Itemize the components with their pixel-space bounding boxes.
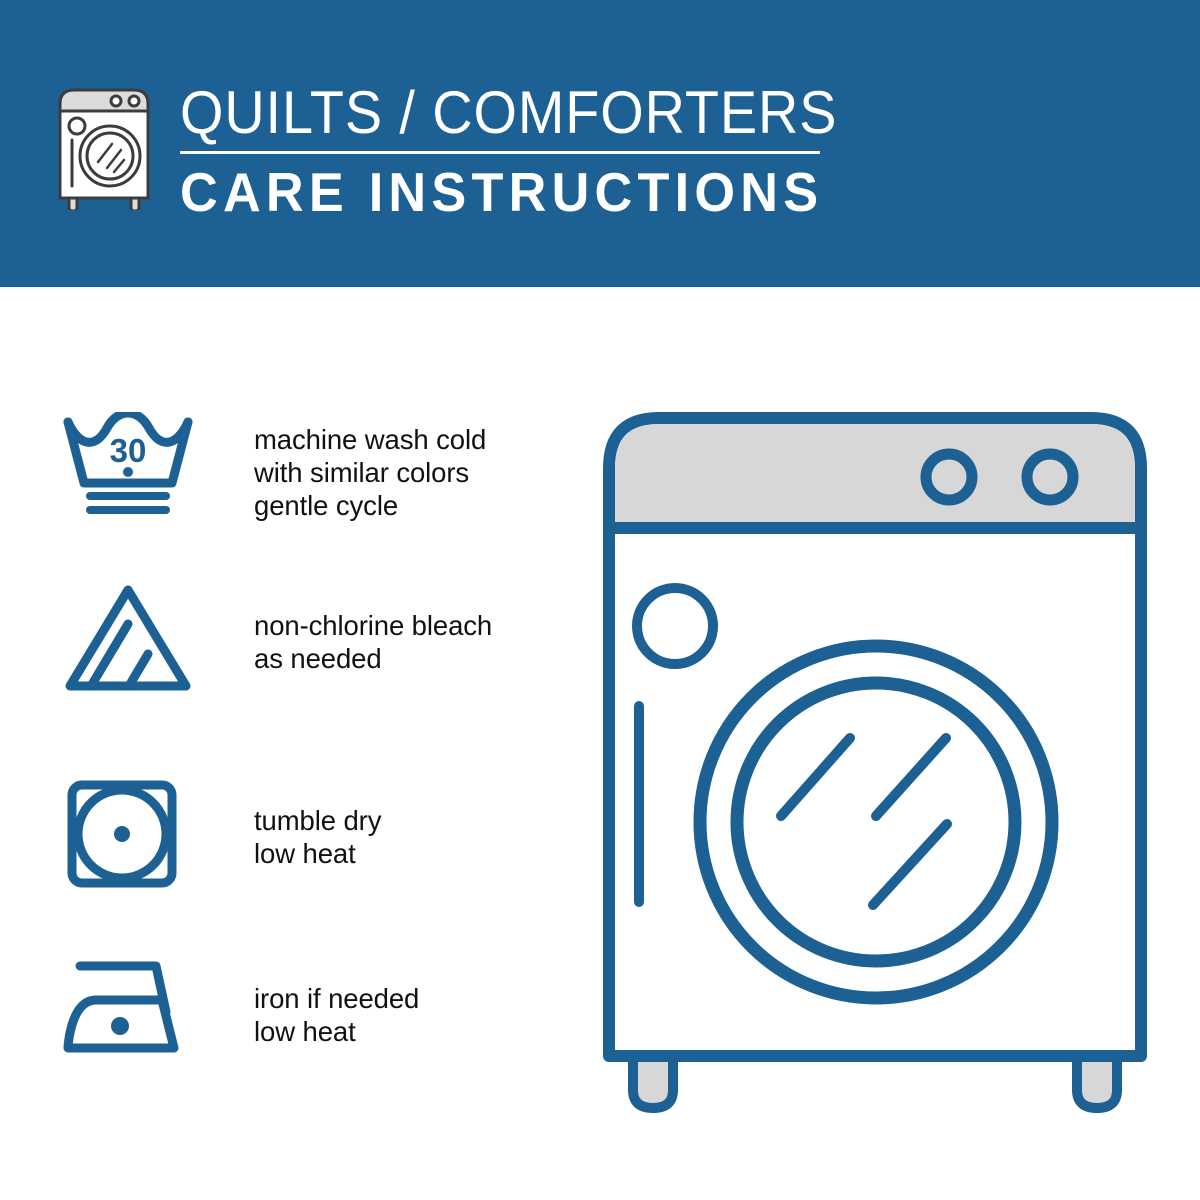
care-item-label: non-chlorine bleach as needed	[254, 609, 492, 675]
header-banner: QUILTS / COMFORTERS CARE INSTRUCTIONS	[0, 0, 1200, 287]
wash-temperature-value: 30	[110, 432, 147, 469]
wash-tub-30-gentle-icon: 30	[62, 412, 194, 522]
title-divider-rule	[180, 151, 820, 154]
page-title-primary: QUILTS / COMFORTERS	[180, 82, 837, 144]
header-content: QUILTS / COMFORTERS CARE INSTRUCTIONS	[52, 78, 887, 221]
care-instruction-list: 30 machine wash cold with similar colors…	[0, 287, 560, 1200]
care-item-tumble-dry: tumble dry low heat	[62, 779, 381, 889]
page-title-secondary: CARE INSTRUCTIONS	[180, 163, 852, 221]
iron-low-heat-icon	[62, 952, 194, 1062]
care-instructions-infographic: QUILTS / COMFORTERS CARE INSTRUCTIONS 30	[0, 0, 1200, 1200]
care-item-machine-wash: 30 machine wash cold with similar colors…	[62, 412, 486, 522]
title-block: QUILTS / COMFORTERS CARE INSTRUCTIONS	[180, 78, 887, 221]
front-load-washing-machine-illustration	[595, 400, 1155, 1120]
care-item-label: tumble dry low heat	[254, 804, 381, 870]
tumble-dry-low-icon	[62, 779, 194, 889]
non-chlorine-bleach-triangle-icon	[62, 582, 194, 692]
care-item-label: machine wash cold with similar colors ge…	[254, 423, 486, 522]
care-item-bleach: non-chlorine bleach as needed	[62, 582, 492, 692]
care-item-label: iron if needed low heat	[254, 982, 419, 1048]
care-item-iron: iron if needed low heat	[62, 952, 419, 1062]
washing-machine-logo-icon	[52, 82, 156, 210]
